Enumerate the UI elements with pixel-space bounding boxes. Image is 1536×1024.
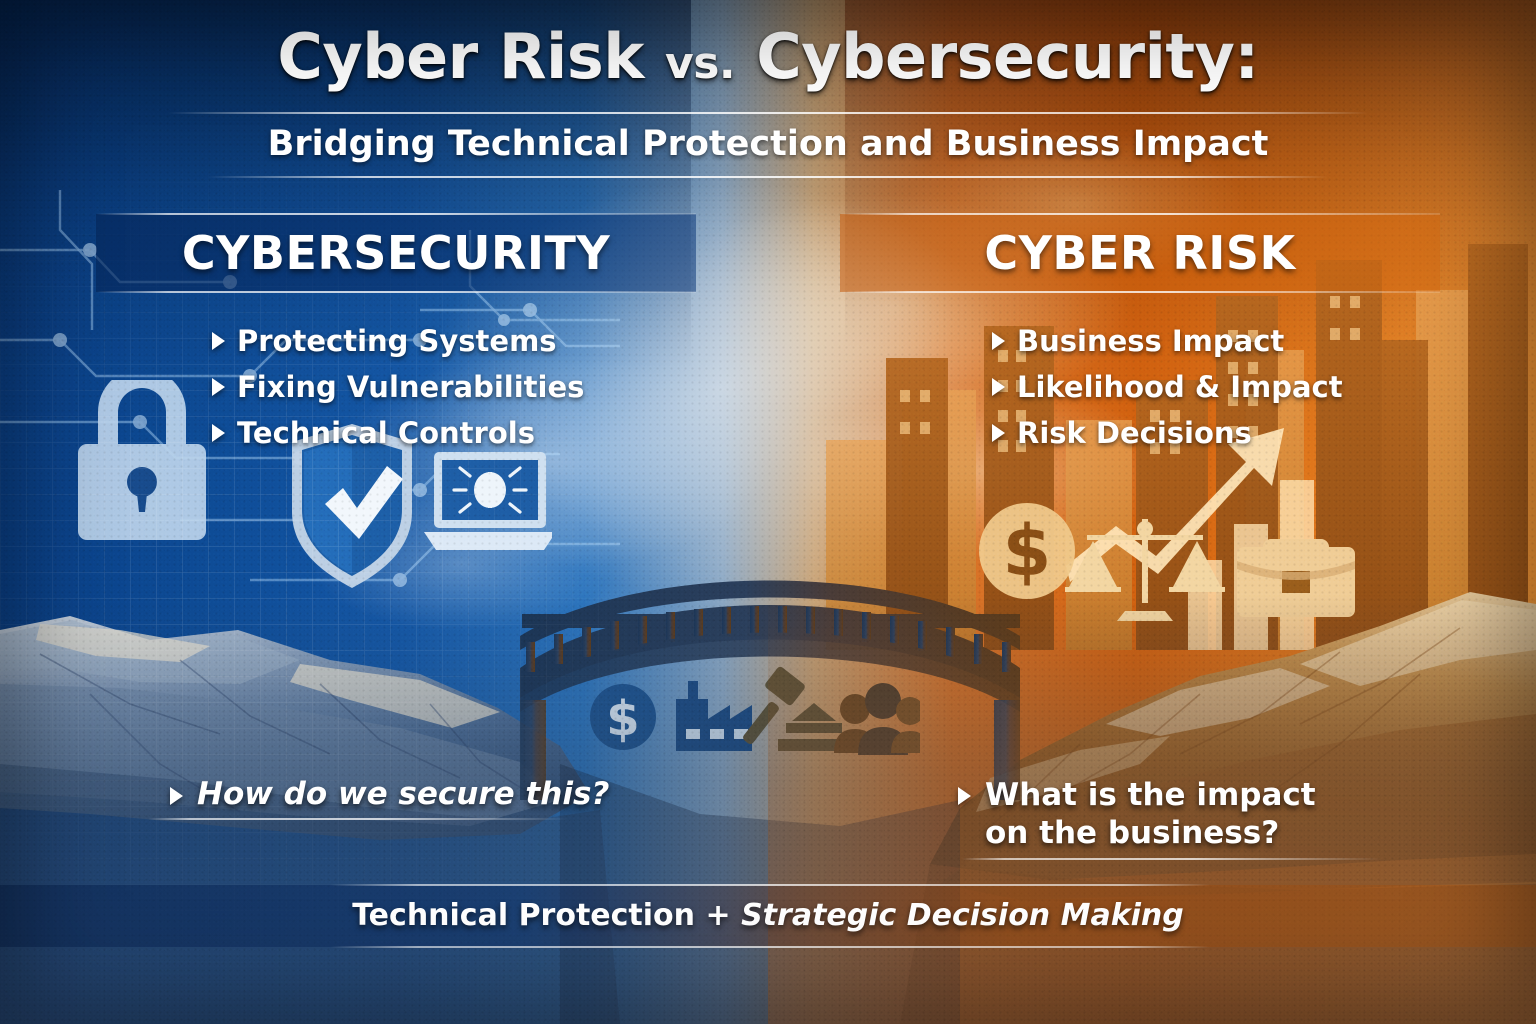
triangle-bullet-icon — [992, 378, 1005, 396]
footer-strong: Technical Protection — [352, 898, 695, 933]
triangle-bullet-icon — [992, 332, 1005, 350]
list-item: Likelihood & Impact — [992, 364, 1343, 410]
list-item: Protecting Systems — [212, 318, 584, 364]
right-question-line-2: on the business? — [985, 815, 1279, 851]
right-header-line-bottom — [840, 291, 1440, 293]
title-vs: vs. — [665, 38, 735, 89]
title-block: Cyber Risk vs. Cybersecurity: — [0, 24, 1536, 90]
right-bullet-list: Business Impact Likelihood & Impact Risk… — [992, 318, 1343, 456]
triangle-bullet-icon — [212, 424, 225, 442]
left-column-heading: CYBERSECURITY — [96, 226, 696, 280]
triangle-bullet-icon — [958, 787, 971, 805]
right-question-text: What is the impact on the business? — [985, 776, 1316, 853]
left-bullet-list: Protecting Systems Fixing Vulnerabilitie… — [212, 318, 584, 456]
footer-divider-bottom — [330, 946, 1210, 948]
right-header-line-top — [840, 213, 1440, 215]
right-column-heading: CYBER RISK — [840, 226, 1440, 280]
right-question-line-1: What is the impact — [985, 777, 1316, 813]
title-divider-top — [168, 112, 1368, 114]
bullet-label: Technical Controls — [237, 416, 535, 450]
title-divider-bottom — [208, 176, 1328, 178]
footer-divider-top — [330, 884, 1210, 886]
triangle-bullet-icon — [992, 424, 1005, 442]
title-part-1: Cyber Risk — [277, 20, 644, 93]
left-header-line-top — [96, 213, 696, 215]
footer-italic: Strategic Decision Making — [741, 898, 1184, 933]
bullet-label: Protecting Systems — [237, 324, 557, 358]
page-subtitle: Bridging Technical Protection and Busine… — [0, 124, 1536, 164]
footer-text: Technical Protection + Strategic Decisio… — [0, 898, 1536, 933]
footer-plus: + — [705, 898, 730, 933]
triangle-bullet-icon — [212, 378, 225, 396]
list-item: Risk Decisions — [992, 410, 1343, 456]
left-question-divider — [148, 818, 568, 820]
list-item: Business Impact — [992, 318, 1343, 364]
bullet-label: Fixing Vulnerabilities — [237, 370, 584, 404]
triangle-bullet-icon — [212, 332, 225, 350]
left-question: How do we secure this? — [170, 776, 609, 812]
right-question-divider — [962, 858, 1382, 860]
title-part-2: Cybersecurity: — [756, 20, 1258, 93]
right-question: What is the impact on the business? — [958, 776, 1316, 853]
left-question-text: How do we secure this? — [197, 776, 609, 812]
triangle-bullet-icon — [170, 787, 183, 805]
bullet-label: Risk Decisions — [1017, 416, 1252, 450]
page-title: Cyber Risk vs. Cybersecurity: — [0, 24, 1536, 90]
list-item: Technical Controls — [212, 410, 584, 456]
left-header-line-bottom — [96, 291, 696, 293]
bullet-label: Business Impact — [1017, 324, 1284, 358]
infographic-poster: $ $ — [0, 0, 1536, 1024]
list-item: Fixing Vulnerabilities — [212, 364, 584, 410]
bullet-label: Likelihood & Impact — [1017, 370, 1343, 404]
